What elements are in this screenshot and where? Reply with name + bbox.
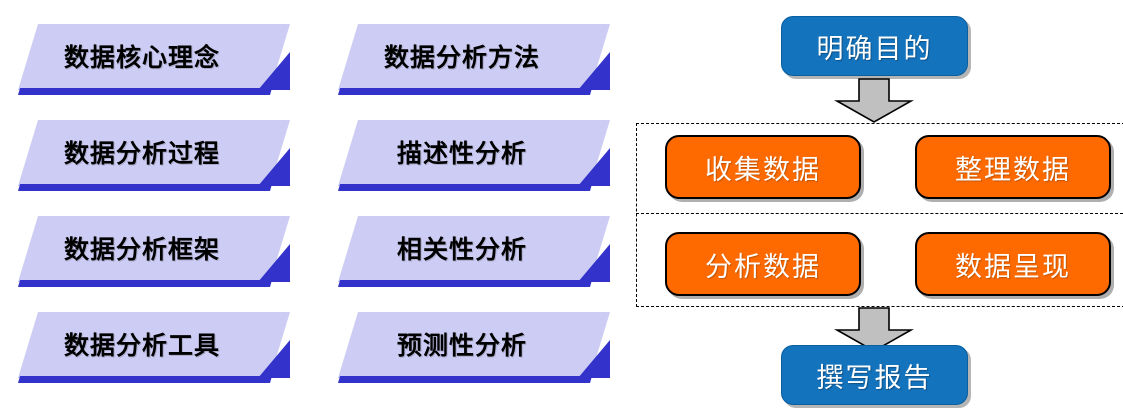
- banner-label: 数据分析方法: [338, 24, 586, 90]
- flow-node-collect-data[interactable]: 收集数据: [665, 135, 861, 199]
- flow-node-present-data[interactable]: 数据呈现: [915, 232, 1111, 296]
- banner-label: 描述性分析: [338, 120, 586, 186]
- banner-data-core-concept[interactable]: 数据核心理念: [18, 24, 290, 96]
- banner-data-analysis-process[interactable]: 数据分析过程: [18, 120, 290, 192]
- banner-descriptive-analysis[interactable]: 描述性分析: [338, 120, 610, 192]
- banner-correlation-analysis[interactable]: 相关性分析: [338, 216, 610, 288]
- flow-node-organize-data[interactable]: 整理数据: [915, 135, 1111, 199]
- banner-label: 数据核心理念: [18, 24, 266, 90]
- banner-label: 相关性分析: [338, 216, 586, 282]
- grouped-steps-divider: [636, 213, 1123, 214]
- banner-label: 预测性分析: [338, 312, 586, 378]
- flow-node-clarify-purpose[interactable]: 明确目的: [781, 16, 968, 76]
- flow-node-analyze-data[interactable]: 分析数据: [665, 232, 861, 296]
- banner-label: 数据分析框架: [18, 216, 266, 282]
- flow-node-write-report[interactable]: 撰写报告: [781, 345, 968, 405]
- banner-data-analysis-framework[interactable]: 数据分析框架: [18, 216, 290, 288]
- banner-label: 数据分析过程: [18, 120, 266, 186]
- banner-data-analysis-tools[interactable]: 数据分析工具: [18, 312, 290, 384]
- banner-label: 数据分析工具: [18, 312, 266, 378]
- diagram-canvas: 数据核心理念 数据分析过程 数据分析框架 数据分析工具 数据分析方法 描述性分析…: [0, 0, 1123, 415]
- banner-predictive-analysis[interactable]: 预测性分析: [338, 312, 610, 384]
- arrow-down-icon-top: [833, 78, 915, 124]
- banner-data-analysis-methods[interactable]: 数据分析方法: [338, 24, 610, 96]
